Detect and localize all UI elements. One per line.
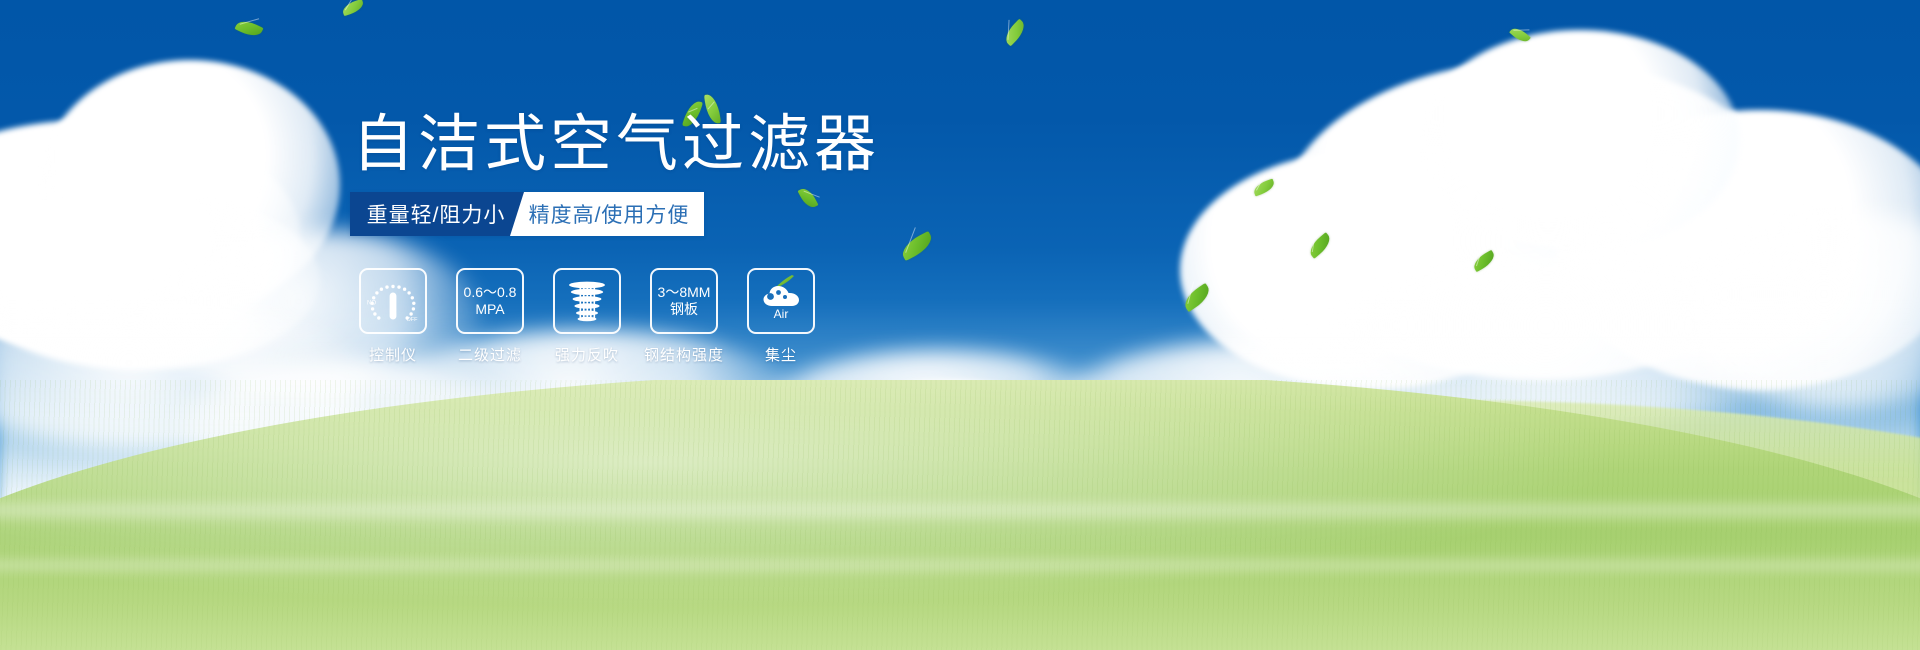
steel-value-line1: 3～8MM [658, 284, 711, 301]
feature-icon-box: 0.6～0.8 MPA [456, 268, 524, 334]
feature-icon-box [553, 268, 621, 334]
feature-item-dust-collection: Air 集尘 [746, 268, 816, 365]
blowback-coil-icon [564, 278, 610, 324]
feature-caption: 钢结构强度 [644, 344, 724, 365]
steel-value-line2: 钢板 [670, 301, 698, 318]
feature-item-control-gauge: NO OFF 控制仪 [358, 268, 428, 365]
product-banner: 自洁式空气过滤器 重量轻/阻力小 精度高/使用方便 [0, 0, 1920, 650]
feature-icon-box: NO OFF [359, 268, 427, 334]
feature-caption: 强力反吹 [555, 344, 619, 365]
dust-cloud-icon [756, 275, 806, 309]
page-title: 自洁式空气过滤器 [352, 112, 880, 177]
subtitle-bar: 重量轻/阻力小 精度高/使用方便 [350, 192, 704, 236]
feature-item-steel-plate: 3～8MM 钢板 钢结构强度 [649, 268, 719, 365]
banner-content: 自洁式空气过滤器 重量轻/阻力小 精度高/使用方便 [0, 0, 1920, 650]
feature-caption: 集尘 [765, 344, 797, 365]
feature-icon-box: Air [747, 268, 815, 334]
pressure-value-line2: MPA [475, 301, 504, 318]
gauge-dial-icon: NO OFF [365, 276, 421, 326]
feature-caption: 控制仪 [369, 344, 417, 365]
feature-item-pressure: 0.6～0.8 MPA 二级过滤 [455, 268, 525, 365]
feature-item-blowback: 强力反吹 [552, 268, 622, 365]
subtitle-segment-right: 精度高/使用方便 [510, 192, 704, 236]
subtitle-segment-left: 重量轻/阻力小 [350, 192, 524, 236]
feature-icon-row: NO OFF 控制仪 0.6～0.8 MPA 二级过滤 [358, 268, 816, 365]
feature-icon-box: 3～8MM 钢板 [650, 268, 718, 334]
pressure-value-line1: 0.6～0.8 [464, 284, 517, 301]
gauge-off-label: OFF [407, 317, 419, 323]
feature-caption: 二级过滤 [458, 344, 522, 365]
gauge-no-label: NO [367, 301, 376, 307]
dust-icon-air-label: Air [774, 306, 789, 323]
